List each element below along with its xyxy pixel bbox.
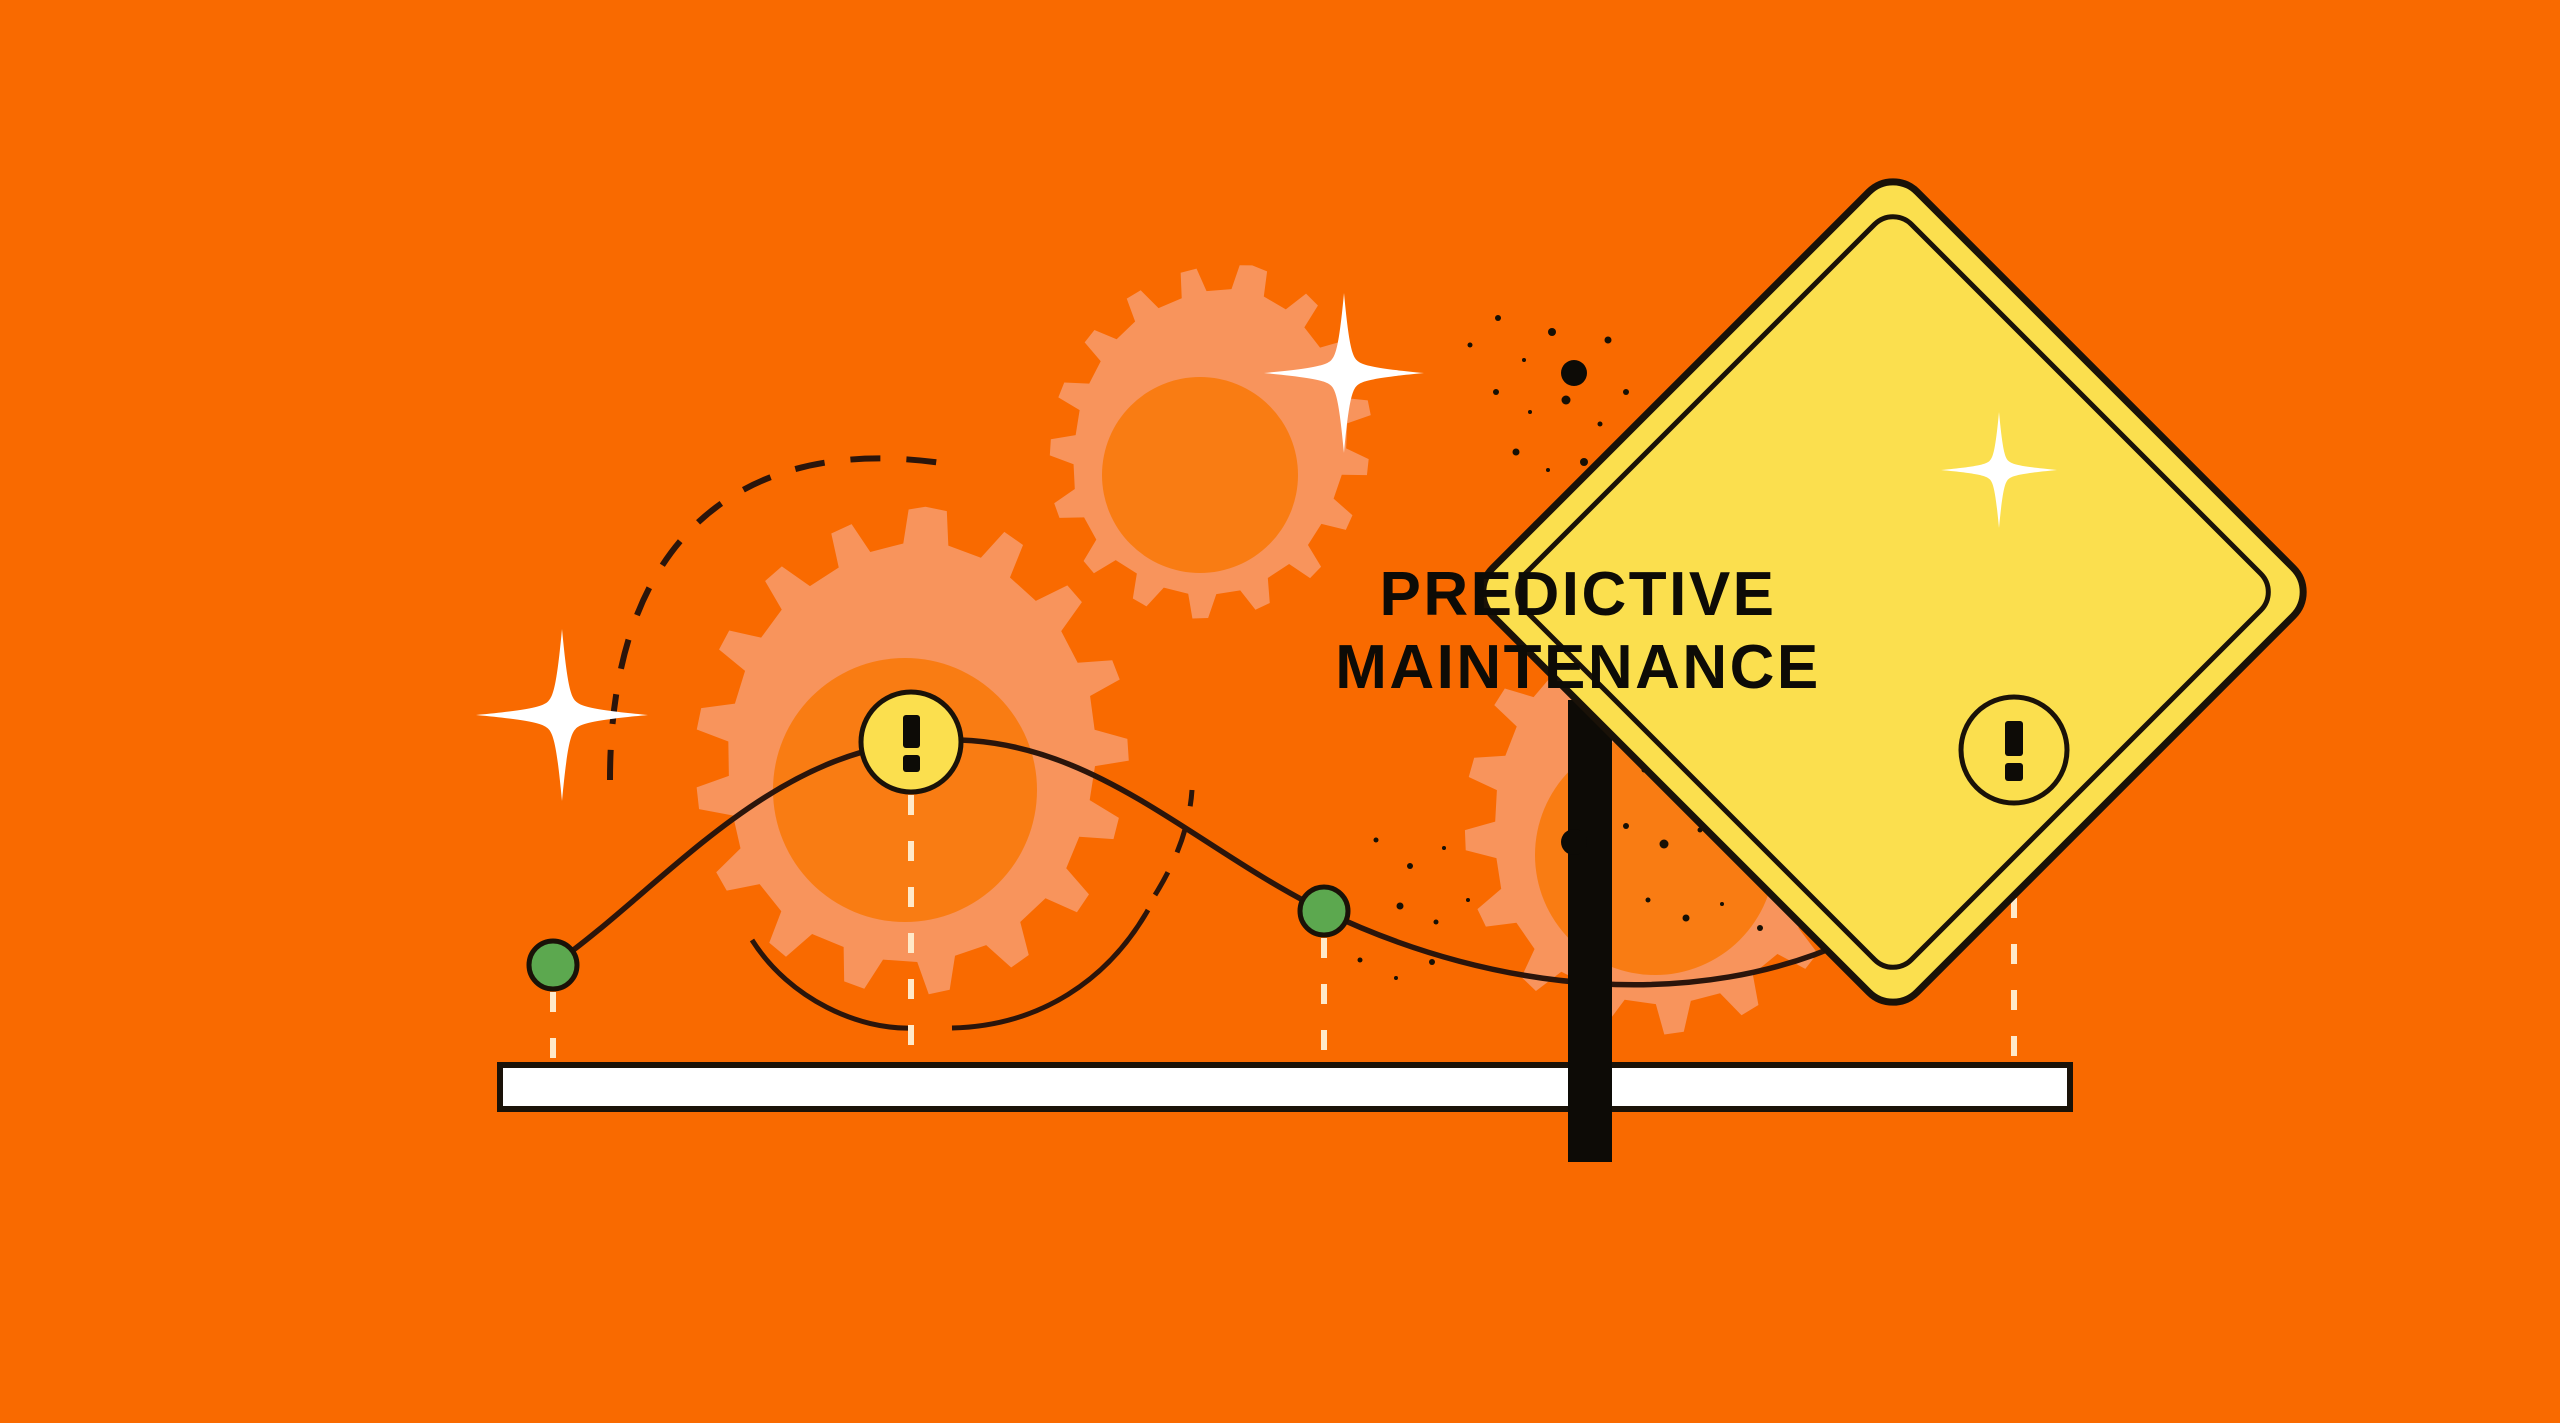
sign-label-line2: MAINTENANCE [1335, 633, 1821, 702]
exclamation-dot-icon [903, 755, 920, 772]
baseline-bar [500, 1065, 2070, 1109]
marker-green-middle[interactable] [1300, 887, 1348, 935]
exclamation-stem-icon [903, 715, 920, 748]
sign-bolt-bottom [1561, 829, 1587, 855]
exclamation-stem-icon [2005, 721, 2023, 756]
marker-green-left[interactable] [529, 941, 577, 989]
exclamation-dot-icon [2005, 763, 2023, 781]
sign-post-front [1568, 1060, 1612, 1162]
illustration-svg: PREDICTIVE MAINTENANCE [0, 0, 2560, 1423]
marker-warning-right[interactable] [1961, 697, 2067, 803]
marker-warning-left[interactable] [861, 692, 961, 792]
illustration-canvas: PREDICTIVE MAINTENANCE [0, 0, 2560, 1423]
sign-bolt-top [1561, 360, 1587, 386]
sign-label-line1: PREDICTIVE [1379, 560, 1776, 629]
